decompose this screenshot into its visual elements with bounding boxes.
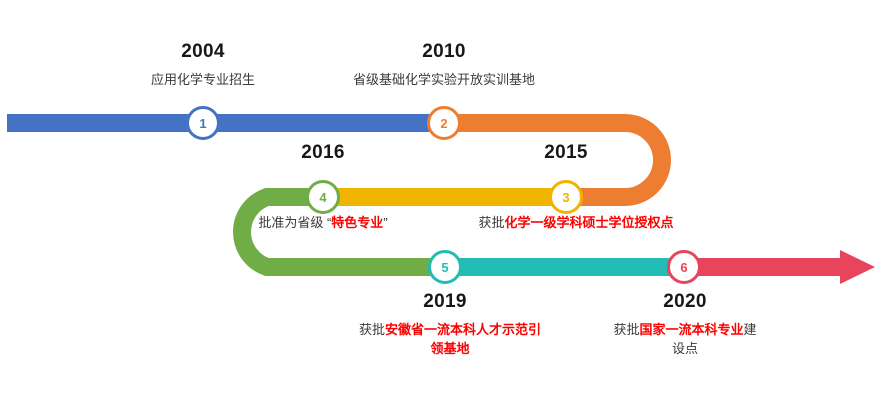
timeline-node-1[interactable]: 1 bbox=[186, 106, 220, 140]
timeline-node-2-number: 2 bbox=[440, 117, 447, 130]
milestone-desc-block-3: 获批化学一级学科硕士学位授权点 bbox=[466, 214, 686, 233]
milestone-label-6: 2020 获批国家一流本科专业建设点 bbox=[585, 292, 785, 359]
milestone-year-block-3: 2015 bbox=[466, 143, 666, 164]
timeline-node-4-number: 4 bbox=[319, 191, 326, 204]
timeline-node-4[interactable]: 4 bbox=[306, 180, 340, 214]
timeline-node-3-number: 3 bbox=[562, 191, 569, 204]
milestone-desc-2: 省级基础化学实验开放实训基地 bbox=[324, 71, 564, 90]
milestone-year-6: 2020 bbox=[585, 292, 785, 313]
milestone-desc-3: 获批化学一级学科硕士学位授权点 bbox=[466, 214, 686, 233]
milestone-year-3: 2015 bbox=[466, 143, 666, 164]
milestone-label-1: 2004 应用化学专业招生 bbox=[103, 42, 303, 90]
milestone-year-1: 2004 bbox=[103, 42, 303, 63]
milestone-desc-1: 应用化学专业招生 bbox=[103, 71, 303, 90]
milestone-label-5: 2019 获批安徽省一流本科人才示范引领基地 bbox=[355, 292, 535, 359]
milestone-year-block-4: 2016 bbox=[223, 143, 423, 164]
timeline-node-3[interactable]: 3 bbox=[549, 180, 583, 214]
milestone-desc-block-4: 批准为省级 “特色专业” bbox=[233, 214, 413, 233]
timeline-node-6-number: 6 bbox=[680, 261, 687, 274]
milestone-desc-6: 获批国家一流本科专业建设点 bbox=[610, 321, 760, 359]
milestone-desc-4: 批准为省级 “特色专业” bbox=[233, 214, 413, 233]
milestone-year-4: 2016 bbox=[223, 143, 423, 164]
arrow-head-icon bbox=[840, 250, 875, 284]
milestone-year-5: 2019 bbox=[355, 292, 535, 313]
timeline-node-1-number: 1 bbox=[199, 117, 206, 130]
milestone-desc-5: 获批安徽省一流本科人才示范引领基地 bbox=[355, 321, 545, 359]
milestone-label-2: 2010 省级基础化学实验开放实训基地 bbox=[324, 42, 564, 90]
timeline-diagram: 1 2 3 4 5 6 2004 应用化学专业招生 2010 省级基础化学实验开… bbox=[0, 0, 881, 404]
milestone-year-2: 2010 bbox=[324, 42, 564, 63]
timeline-node-5[interactable]: 5 bbox=[428, 250, 462, 284]
timeline-node-6[interactable]: 6 bbox=[667, 250, 701, 284]
timeline-node-5-number: 5 bbox=[441, 261, 448, 274]
timeline-node-2[interactable]: 2 bbox=[427, 106, 461, 140]
